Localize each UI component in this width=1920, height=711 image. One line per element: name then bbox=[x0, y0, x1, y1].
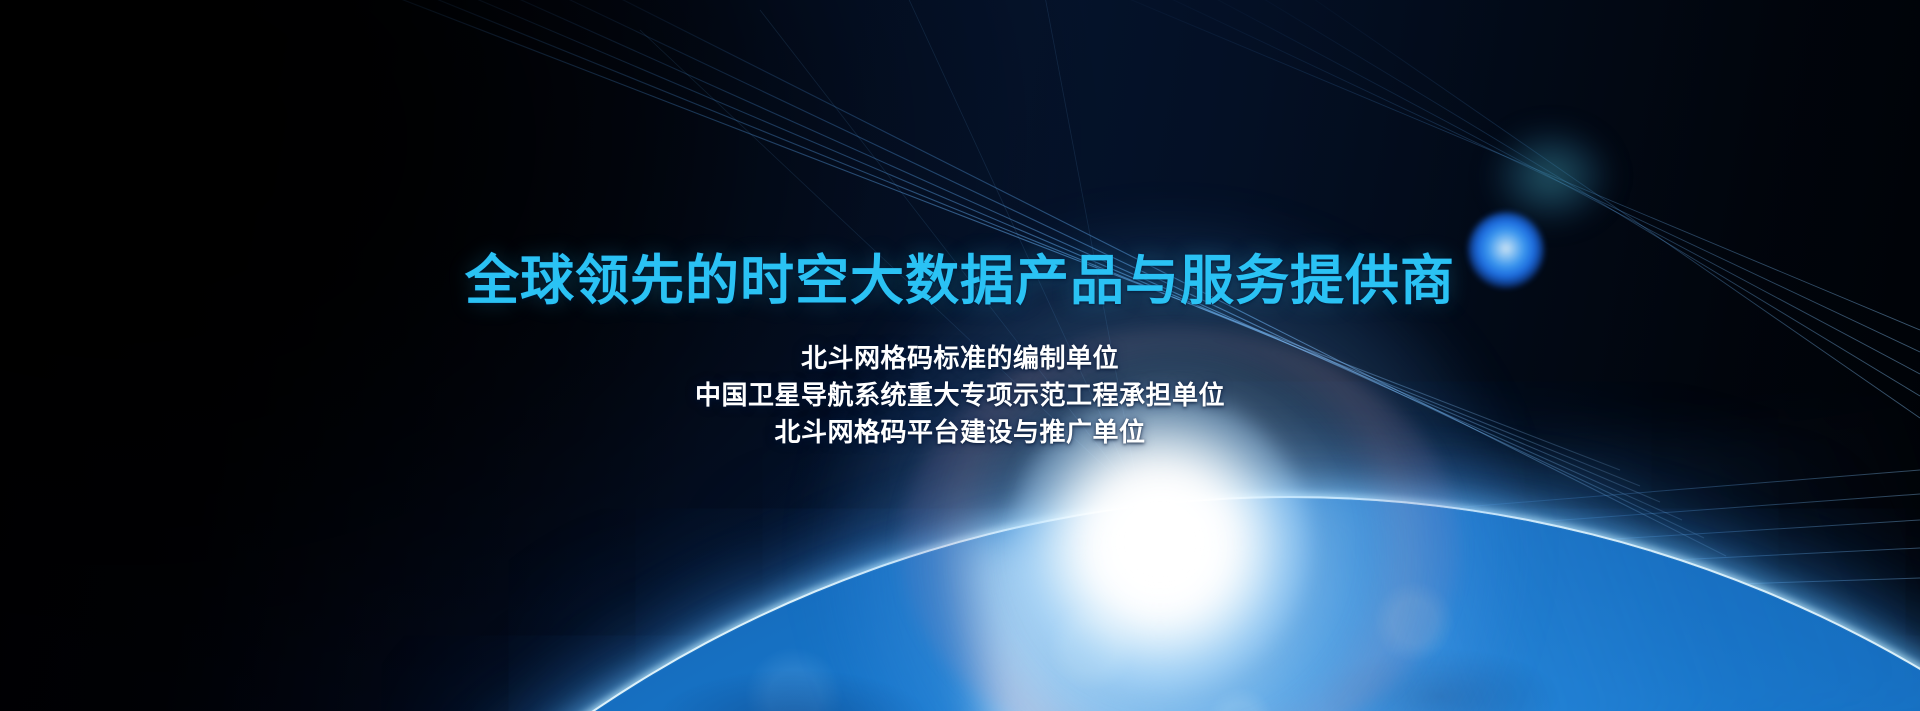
banner-subtitle-list: 北斗网格码标准的编制单位 中国卫星导航系统重大专项示范工程承担单位 北斗网格码平… bbox=[0, 341, 1920, 452]
banner-subtitle-line-2: 中国卫星导航系统重大专项示范工程承担单位 bbox=[0, 378, 1920, 415]
banner-subtitle-line-1: 北斗网格码标准的编制单位 bbox=[0, 341, 1920, 378]
banner-headline: 全球领先的时空大数据产品与服务提供商 bbox=[0, 252, 1920, 309]
globe-sphere bbox=[50, 498, 1920, 711]
globe-isometric-cube-grid bbox=[50, 498, 1920, 711]
banner-content: 全球领先的时空大数据产品与服务提供商 北斗网格码标准的编制单位 中国卫星导航系统… bbox=[0, 252, 1920, 452]
banner-subtitle-line-3: 北斗网格码平台建设与推广单位 bbox=[0, 415, 1920, 452]
hero-banner: 全球领先的时空大数据产品与服务提供商 北斗网格码标准的编制单位 中国卫星导航系统… bbox=[0, 0, 1920, 711]
